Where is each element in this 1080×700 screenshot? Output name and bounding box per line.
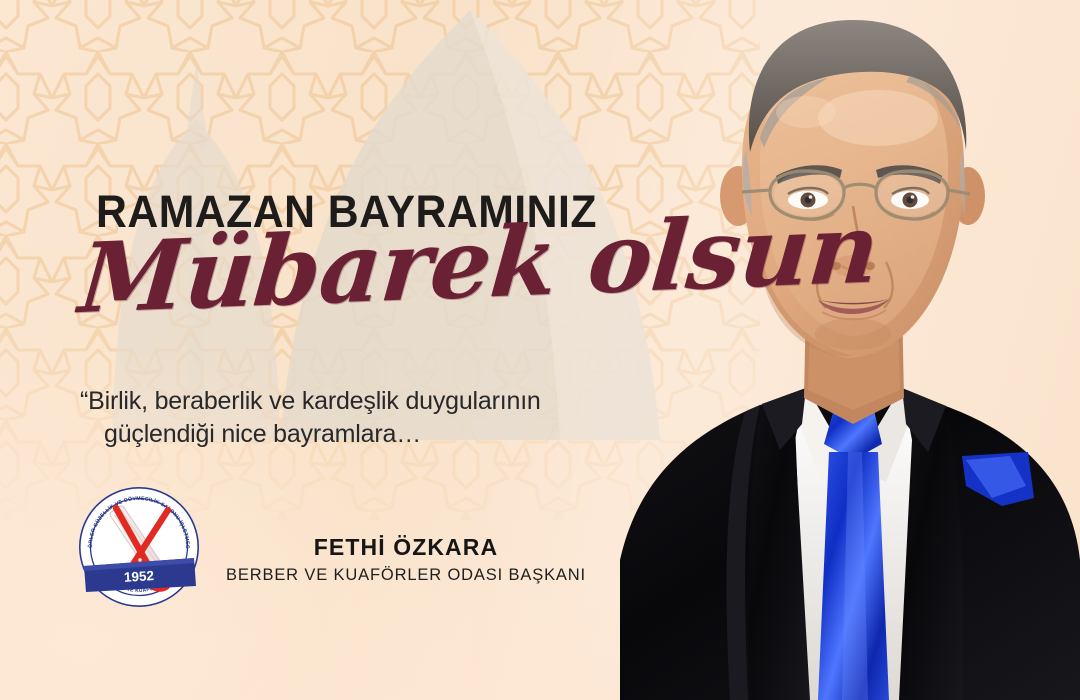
logo-year: 1952 [124,568,155,585]
quote-line-2: güçlendiği nice bayramlara… [80,418,660,451]
quote-line-1: “Birlik, beraberlik ve kardeşlik duygula… [80,387,541,415]
signature-text: FETHİ ÖZKARA BERBER VE KUAFÖRLER ODASI B… [226,510,586,585]
chamber-logo: KUAFÖRLER GÜZELLİK VE DÖVMECİLİK SALONU … [78,486,200,608]
greeting-poster: RAMAZAN BAYRAMINIZ Mübarek olsun “Birlik… [0,0,1080,700]
signature-block: KUAFÖRLER GÜZELLİK VE DÖVMECİLİK SALONU … [78,486,586,608]
signer-title: BERBER VE KUAFÖRLER ODASI BAŞKANI [226,566,586,585]
portrait-photo [610,0,1080,700]
signer-name: FETHİ ÖZKARA [226,534,586,561]
quote-text: “Birlik, beraberlik ve kardeşlik duygula… [80,385,660,451]
